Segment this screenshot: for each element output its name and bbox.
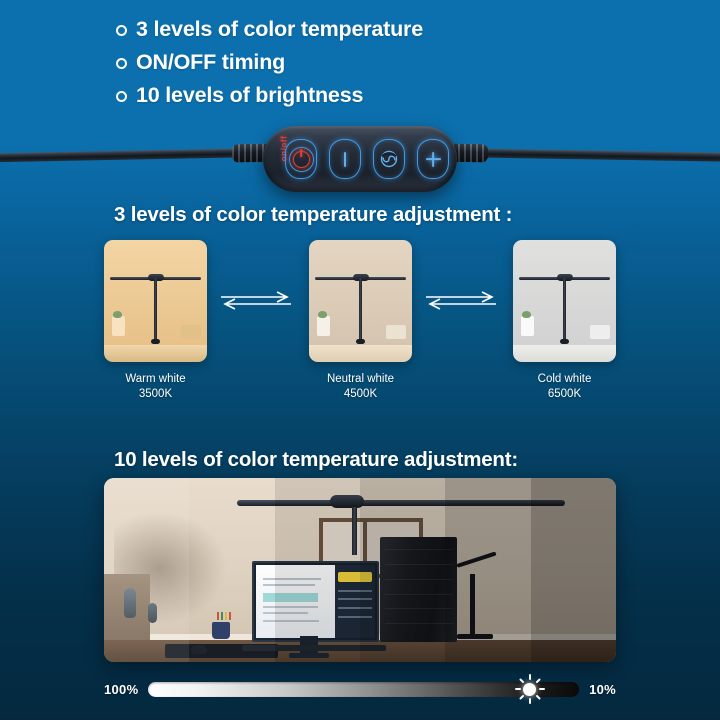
scene-box [386,325,406,339]
slider-right-label: 10% [589,682,616,697]
scene-planter [112,316,125,336]
cct-panel-neutral: Neutral white 4500K [309,240,412,402]
scene-desk [104,345,207,362]
scene-foot [560,339,569,344]
cct-kelvin: 6500K [513,387,616,402]
power-icon [293,151,310,168]
scene-stem [359,278,362,341]
circle-outline-icon [116,25,127,36]
cct-panel-cold: Cold white 6500K [513,240,616,402]
plus-button[interactable] [417,139,449,179]
timer-icon [379,149,399,169]
cct-photo [513,240,616,362]
feature-label: 3 levels of color temperature [136,14,423,45]
feature-item: ON/OFF timing [116,47,636,78]
photo-scene [104,478,616,662]
inline-controller: on/off [263,126,457,192]
feature-label: 10 levels of brightness [136,80,363,111]
cable-left [0,148,264,162]
cct-comparison-row: Warm white 3500K Neutral whi [0,240,720,405]
plus-icon [426,152,441,167]
brightness-bands [104,478,616,662]
scene-leaf [522,311,531,318]
cct-kelvin: 3500K [104,387,207,402]
scene-leaf [113,311,122,318]
cct-name: Neutral white [309,372,412,387]
product-infographic: 3 levels of color temperature ON/OFF tim… [0,0,720,720]
circle-outline-icon [116,58,127,69]
cable-right [454,148,720,162]
scene-stem [154,278,157,341]
cct-photo [104,240,207,362]
cct-photo [309,240,412,362]
bar-icon [344,152,346,167]
scene-leaf [318,311,327,318]
room-scene [513,240,616,362]
circle-outline-icon [116,91,127,102]
cct-name: Warm white [104,372,207,387]
room-scene [104,240,207,362]
scene-stem [563,278,566,341]
scene-desk [309,345,412,362]
cct-caption: Neutral white 4500K [309,372,412,402]
brightness-section-heading: 10 levels of color temperature adjustmen… [114,448,518,472]
cct-section-heading: 3 levels of color temperature adjustment… [114,203,512,227]
cct-caption: Cold white 6500K [513,372,616,402]
scene-planter [317,316,330,336]
cct-caption: Warm white 3500K [104,372,207,402]
controller-buttons [285,138,449,180]
power-button[interactable] [285,139,317,179]
cct-kelvin: 4500K [309,387,412,402]
slider-left-label: 100% [104,682,138,697]
scene-foot [151,339,160,344]
brightness-button[interactable] [329,139,361,179]
arrow-neutral-to-cold [424,289,498,311]
feature-item: 10 levels of brightness [116,80,636,111]
brightness-demo-photo [104,478,616,662]
scene-box [181,325,201,339]
feature-list: 3 levels of color temperature ON/OFF tim… [116,14,636,113]
cct-panel-warm: Warm white 3500K [104,240,207,402]
slider-track[interactable] [148,682,579,697]
feature-item: 3 levels of color temperature [116,14,636,45]
timer-button[interactable] [373,139,405,179]
cct-name: Cold white [513,372,616,387]
room-scene [309,240,412,362]
arrow-warm-to-neutral [219,289,293,311]
scene-planter [521,316,534,336]
scene-box [590,325,610,339]
brightness-slider[interactable]: 100% 10% [104,676,616,702]
scene-desk [513,345,616,362]
scene-foot [356,339,365,344]
feature-label: ON/OFF timing [136,47,285,78]
slider-handle[interactable] [523,683,536,696]
